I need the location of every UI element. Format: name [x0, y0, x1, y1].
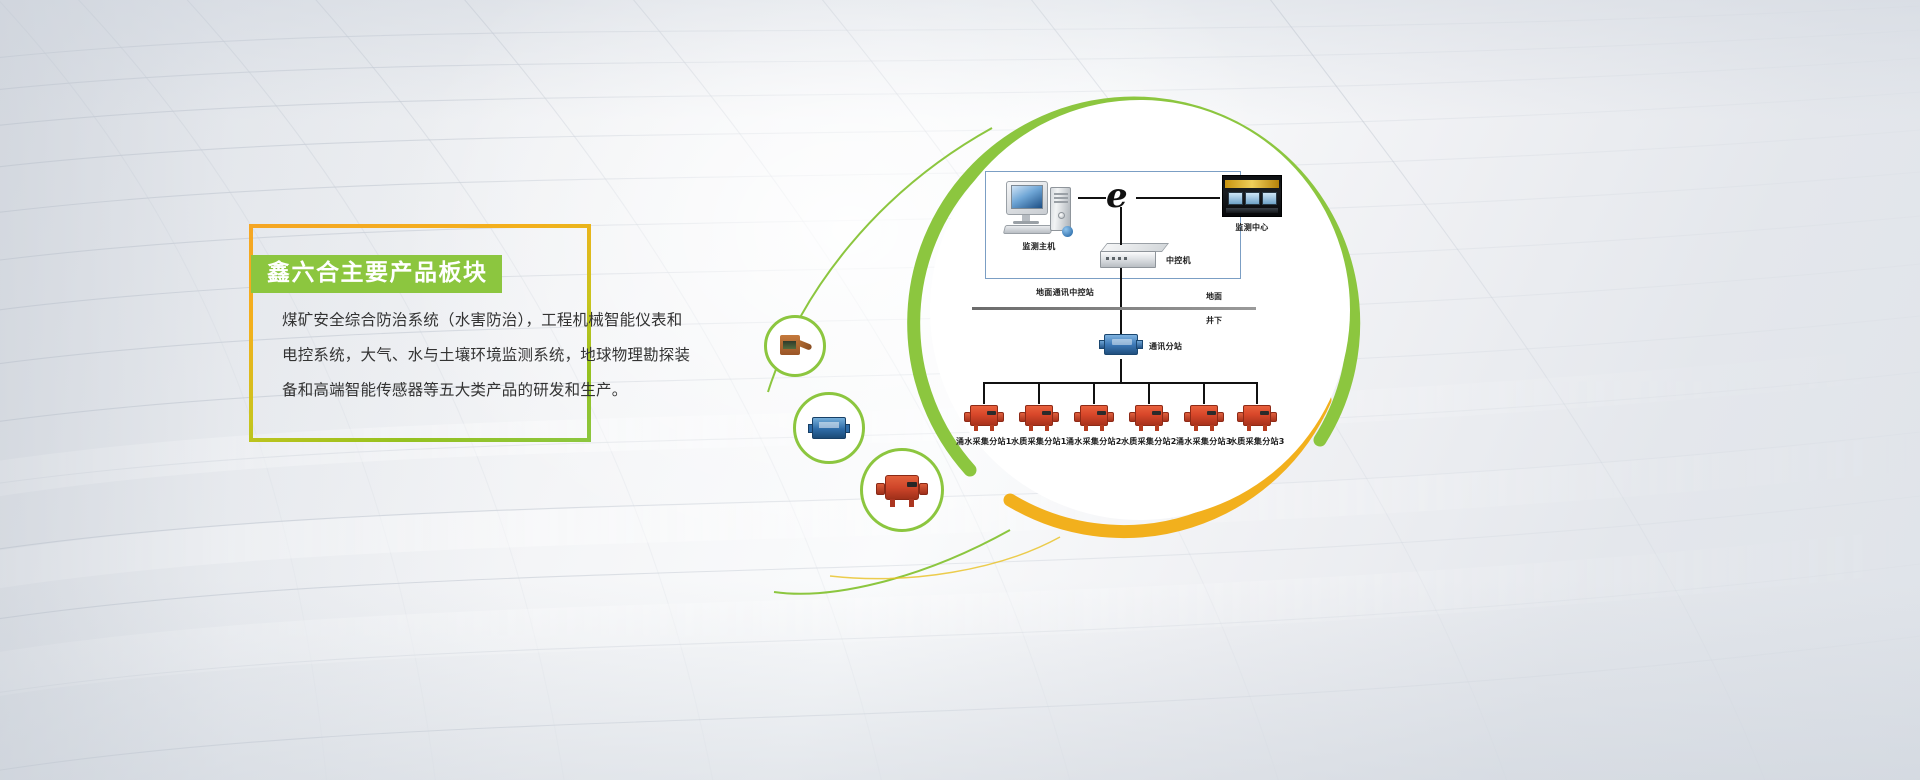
desktop-computer-icon — [1004, 181, 1078, 237]
diagram-content: 监测主机 中控机 e — [960, 135, 1330, 485]
wire-drop-1 — [983, 382, 985, 404]
node-substation-6: 水质采集分站3 — [1237, 403, 1285, 447]
page-title: 鑫六合主要产品板块 — [251, 255, 502, 293]
wire-substation-trunk — [1120, 359, 1122, 383]
description-line-3: 备和高端智能传感器等五大类产品的研发和生产。 — [282, 373, 702, 408]
node-label-substation-5: 涌水采集分站3 — [1176, 436, 1232, 447]
node-label-substation-3: 涌水采集分站2 — [1066, 436, 1122, 447]
decorative-rings — [760, 40, 1920, 780]
blue-substation-icon — [1099, 331, 1143, 359]
wire-substation-bus — [983, 382, 1258, 384]
node-label-substation-6: 水质采集分站3 — [1229, 436, 1285, 447]
panel-description: 煤矿安全综合防治系统（水害防治），工程机械智能仪表和 电控系统，大气、水与土壤环… — [282, 303, 702, 408]
banner-stage: 鑫六合主要产品板块 煤矿安全综合防治系统（水害防治），工程机械智能仪表和 电控系… — [0, 0, 1920, 780]
node-substation-5: 涌水采集分站3 — [1184, 403, 1232, 447]
wire-host-to-internet — [1078, 197, 1106, 199]
wire-drop-3 — [1093, 382, 1095, 404]
node-label-substation-4: 水质采集分站2 — [1121, 436, 1177, 447]
blue-substation-device-icon — [808, 415, 850, 442]
system-diagram-graphic: 监测主机 中控机 e — [760, 40, 1920, 780]
node-substation-4: 水质采集分站2 — [1129, 403, 1177, 447]
wire-controller-to-substation — [1120, 268, 1122, 334]
red-pump-station-icon — [1237, 403, 1277, 433]
node-label-monitoring-center: 监测中心 — [1222, 222, 1282, 233]
wire-drop-4 — [1148, 382, 1150, 404]
node-substation-1: 涌水采集分站1 — [964, 403, 1012, 447]
node-comm-substation: 通讯分站 — [1099, 331, 1143, 359]
node-label-substation-2: 水质采集分站1 — [1011, 436, 1067, 447]
node-label-central-controller: 中控机 — [1166, 255, 1191, 266]
description-line-2: 电控系统，大气、水与土壤环境监测系统，地球物理勘探装 — [282, 338, 702, 373]
node-substation-2: 水质采集分站1 — [1019, 403, 1067, 447]
side-label-above-ground: 地面 — [1206, 291, 1222, 302]
wire-internet-to-controller — [1120, 207, 1122, 245]
ground-underground-divider — [972, 307, 1256, 310]
wire-drop-6 — [1256, 382, 1258, 404]
bubble-blue-substation — [793, 392, 865, 464]
node-label-comm-substation: 通讯分站 — [1149, 341, 1182, 352]
ground-station-label: 地面通讯中控站 — [1036, 287, 1094, 298]
node-label-substation-1: 涌水采集分站1 — [956, 436, 1012, 447]
wire-internet-to-center — [1136, 197, 1220, 199]
side-label-underground: 井下 — [1206, 315, 1222, 326]
wire-drop-5 — [1203, 382, 1205, 404]
node-central-controller: 中控机 — [1100, 243, 1162, 273]
server-box-icon — [1100, 243, 1162, 273]
red-pump-station-icon — [1074, 403, 1114, 433]
node-label-monitoring-host: 监测主机 — [1000, 241, 1078, 252]
bubble-brown-sensor — [764, 315, 826, 377]
node-monitoring-center: 监测中心 — [1222, 175, 1282, 233]
bubble-red-pump — [860, 448, 944, 532]
red-pump-station-icon — [1184, 403, 1224, 433]
node-substation-3: 涌水采集分站2 — [1074, 403, 1122, 447]
red-pump-station-icon — [964, 403, 1004, 433]
brown-sensor-device-icon — [778, 335, 812, 357]
red-pump-station-icon — [1019, 403, 1059, 433]
internet-e-icon: e — [1106, 179, 1128, 213]
red-pump-device-icon — [876, 472, 928, 508]
node-monitoring-host: 监测主机 — [1004, 181, 1078, 252]
description-line-1: 煤矿安全综合防治系统（水害防治），工程机械智能仪表和 — [282, 303, 702, 338]
screen-wall-icon — [1222, 175, 1282, 217]
wire-drop-2 — [1038, 382, 1040, 404]
red-pump-station-icon — [1129, 403, 1169, 433]
